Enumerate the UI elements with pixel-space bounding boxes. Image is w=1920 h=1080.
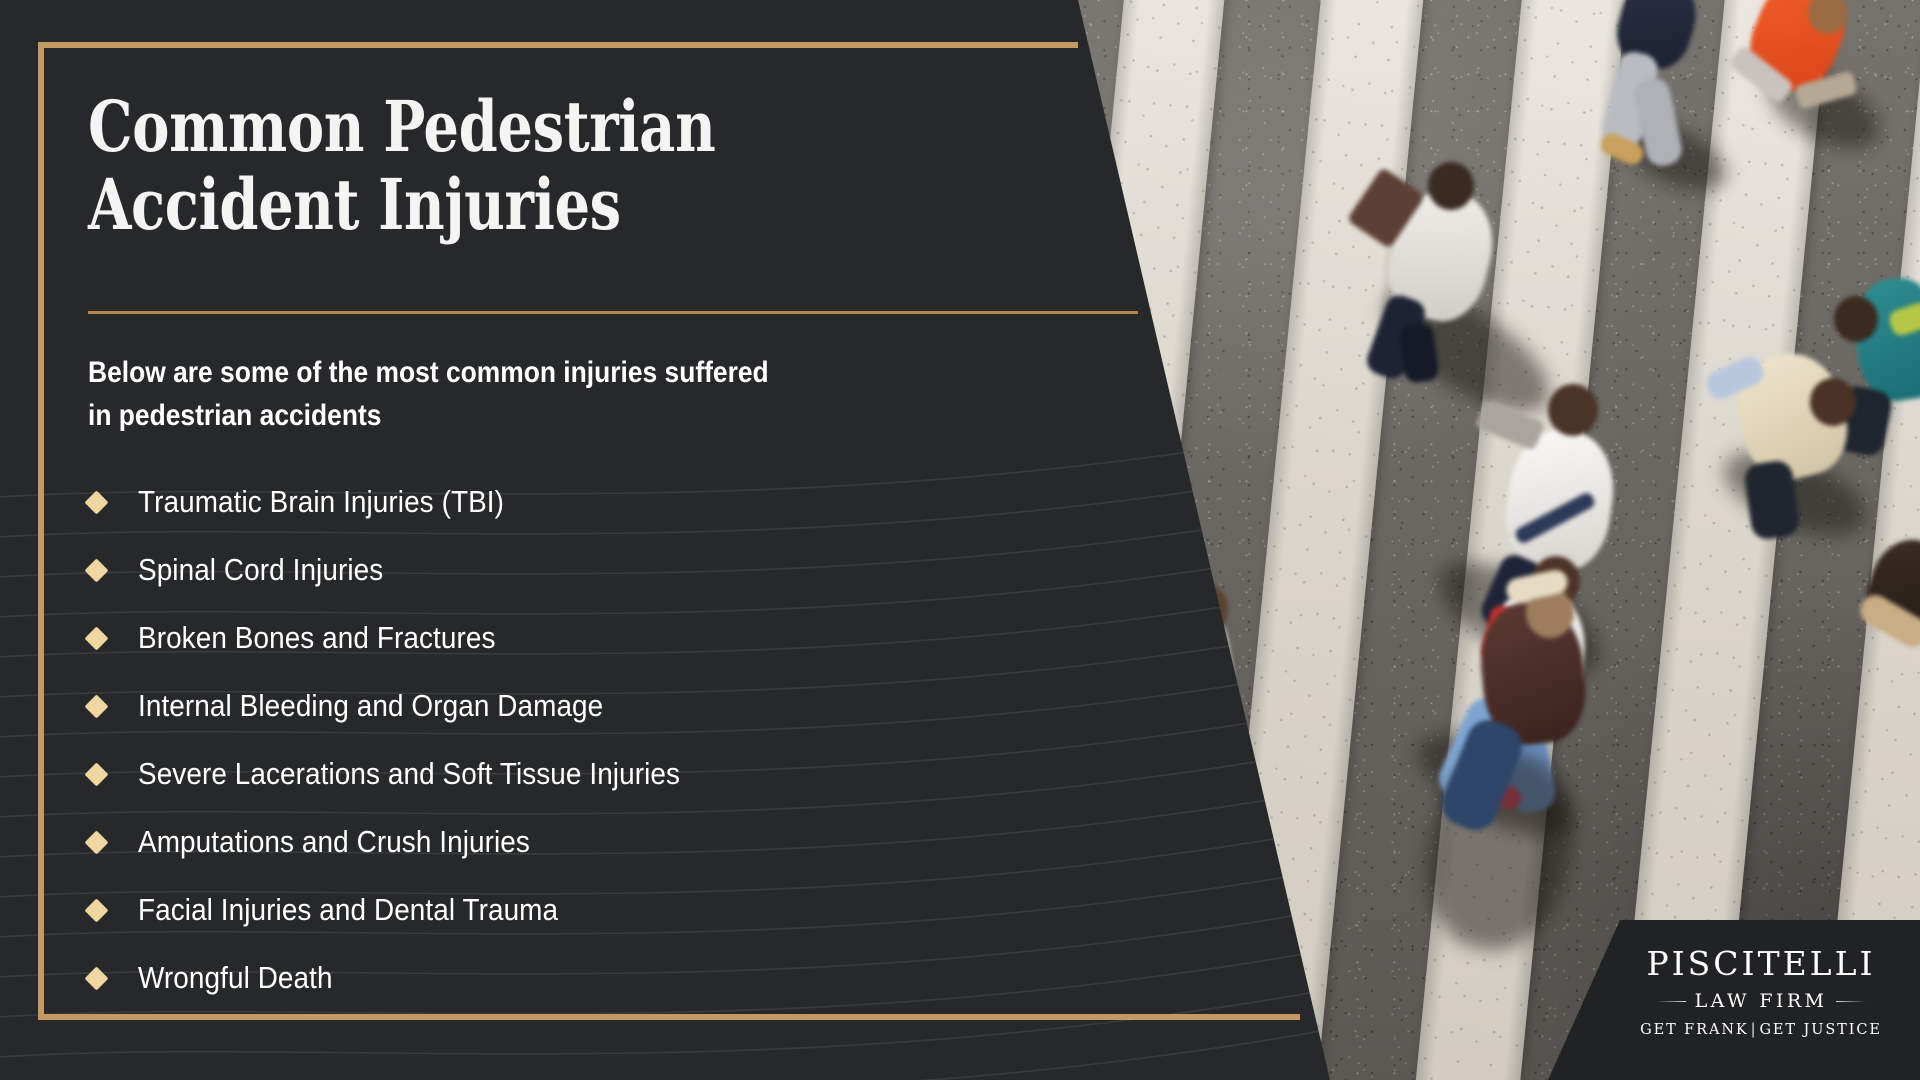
pedestrian-lower-center: [1420, 540, 1650, 840]
pedestrian-right-edge: [1840, 520, 1920, 670]
injury-list: Traumatic Brain Injuries (TBI) Spinal Co…: [88, 468, 1138, 1012]
pedestrian-white-1: [1340, 138, 1540, 388]
title-divider-rule: [88, 311, 1138, 314]
list-item-label: Amputations and Crush Injuries: [138, 824, 530, 860]
slide-root: Common Pedestrian Accident Injuries Belo…: [0, 0, 1920, 1080]
list-item-label: Severe Lacerations and Soft Tissue Injur…: [138, 756, 680, 792]
logo-tagline-left: GET FRANK: [1640, 1022, 1749, 1038]
list-item-label: Wrongful Death: [138, 960, 333, 996]
list-item: Facial Injuries and Dental Trauma: [88, 876, 1138, 944]
diamond-bullet-icon: [84, 490, 108, 514]
list-item: Severe Lacerations and Soft Tissue Injur…: [88, 740, 1138, 808]
diamond-bullet-icon: [84, 966, 108, 990]
list-item-label: Traumatic Brain Injuries (TBI): [138, 484, 504, 520]
list-item-label: Internal Bleeding and Organ Damage: [138, 688, 603, 724]
list-item: Broken Bones and Fractures: [88, 604, 1138, 672]
diamond-bullet-icon: [84, 558, 108, 582]
diamond-bullet-icon: [84, 898, 108, 922]
logo-tagline-divider: |: [1749, 1022, 1760, 1038]
list-item-label: Broken Bones and Fractures: [138, 620, 495, 656]
pedestrian-cream: [1692, 316, 1902, 546]
diamond-bullet-icon: [84, 830, 108, 854]
list-item: Wrongful Death: [88, 944, 1138, 1012]
page-title: Common Pedestrian Accident Injuries: [88, 88, 808, 245]
logo-dash-right-icon: [1836, 1001, 1866, 1002]
list-item: Internal Bleeding and Organ Damage: [88, 672, 1138, 740]
diamond-bullet-icon: [84, 694, 108, 718]
logo-dash-left-icon: [1656, 1001, 1686, 1002]
logo-firm-name: PISCITELLI: [1626, 947, 1896, 980]
logo-tagline-right: GET JUSTICE: [1759, 1022, 1881, 1038]
subtitle-text: Below are some of the most common injuri…: [88, 352, 880, 437]
logo-subtitle: LAW FIRM: [1695, 992, 1828, 1011]
list-item-label: Facial Injuries and Dental Trauma: [138, 892, 558, 928]
list-item: Amputations and Crush Injuries: [88, 808, 1138, 876]
list-item: Traumatic Brain Injuries (TBI): [88, 468, 1138, 536]
logo-subtitle-row: LAW FIRM: [1626, 992, 1896, 1011]
logo-tagline: GET FRANK|GET JUSTICE: [1626, 1022, 1896, 1038]
diamond-bullet-icon: [84, 762, 108, 786]
pedestrian-grey: [1580, 0, 1750, 170]
list-item: Spinal Cord Injuries: [88, 536, 1138, 604]
list-item-label: Spinal Cord Injuries: [138, 552, 383, 588]
diamond-bullet-icon: [84, 626, 108, 650]
